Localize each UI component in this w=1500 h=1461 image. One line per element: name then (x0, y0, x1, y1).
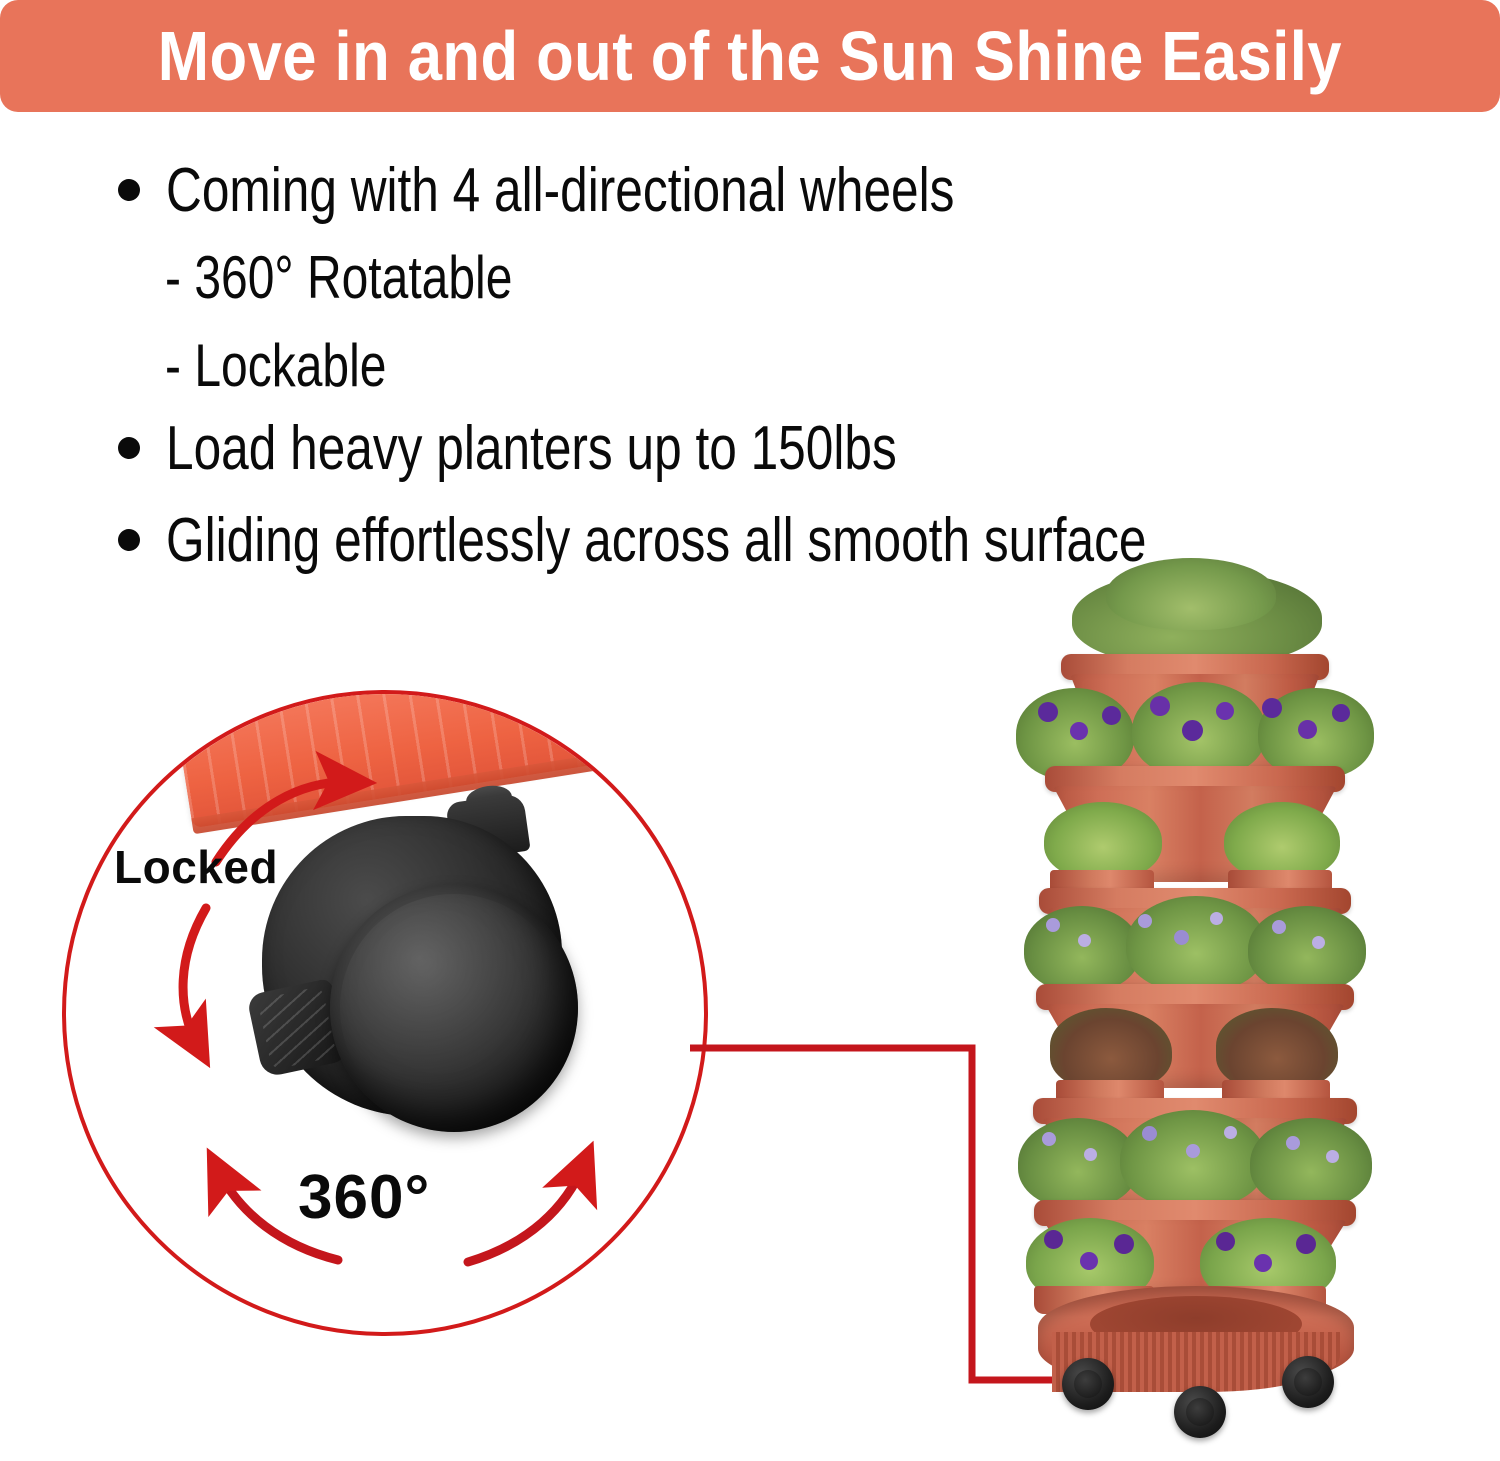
brake-lever-ridges (257, 986, 337, 1070)
flower-dot (1044, 1230, 1063, 1249)
feature-text: Load heavy planters up to 150lbs (166, 418, 897, 480)
plant-lavender-lobelia (1126, 896, 1266, 992)
wheel-tire (330, 884, 578, 1132)
flower-dot (1174, 930, 1189, 945)
flower-dot (1262, 698, 1282, 718)
flower-dot (1216, 1232, 1235, 1251)
flower-dot (1332, 704, 1350, 722)
flower-dot (1084, 1148, 1097, 1161)
list-item: Coming with 4 all-directional wheels (118, 160, 1152, 222)
flower-dot (1102, 706, 1121, 725)
feature-text: Gliding effortlessly across all smooth s… (166, 510, 1146, 572)
feature-text: Coming with 4 all-directional wheels (166, 160, 954, 222)
flower-dot (1046, 918, 1060, 932)
flower-dot (1138, 914, 1152, 928)
flower-dot (1142, 1126, 1157, 1141)
locked-arrow-down-icon (183, 908, 206, 1046)
page-title: Move in and out of the Sun Shine Easily (158, 16, 1342, 96)
flower-dot (1070, 722, 1088, 740)
plant-green-herb-bush (1106, 558, 1276, 630)
flower-dot (1224, 1126, 1237, 1139)
list-item: - 360° Rotatable (165, 248, 599, 308)
feature-text: - 360° Rotatable (165, 248, 512, 308)
bullet-dot-icon (118, 529, 140, 551)
feature-text: - Lockable (165, 336, 386, 396)
list-item: Load heavy planters up to 150lbs (118, 418, 1079, 480)
rolling-caddy-base (1038, 1280, 1354, 1420)
rotation-label: 360° (298, 1162, 430, 1233)
header-banner: Move in and out of the Sun Shine Easily (0, 0, 1500, 112)
flower-dot (1078, 934, 1091, 947)
flower-dot (1298, 720, 1317, 739)
plant-basil-greens (1224, 802, 1340, 880)
plant-lavender-lobelia (1120, 1110, 1266, 1208)
flower-dot (1326, 1150, 1339, 1163)
flower-dot (1272, 920, 1286, 934)
flower-dot (1186, 1144, 1200, 1158)
planter-tower (1010, 570, 1380, 1430)
flower-dot (1296, 1234, 1316, 1254)
flower-dot (1042, 1132, 1056, 1146)
plant-basil-greens (1044, 802, 1162, 880)
flower-dot (1210, 912, 1223, 925)
flower-dot (1254, 1254, 1272, 1272)
flower-dot (1150, 696, 1170, 716)
caster-wheel-graphic (234, 806, 614, 1186)
list-item: - Lockable (165, 336, 442, 396)
caster-wheel-icon (1282, 1356, 1334, 1408)
flower-dot (1114, 1234, 1134, 1254)
locked-label: Locked (114, 840, 278, 894)
flower-dot (1182, 720, 1203, 741)
plant-lavender-lobelia (1250, 1118, 1372, 1208)
flower-dot (1216, 702, 1234, 720)
plant-lavender-lobelia (1248, 906, 1366, 992)
flower-dot (1286, 1136, 1300, 1150)
flower-dot (1080, 1252, 1098, 1270)
bullet-dot-icon (118, 179, 140, 201)
bullet-dot-icon (118, 437, 140, 459)
caster-wheel-icon (1174, 1386, 1226, 1438)
caster-wheel-icon (1062, 1358, 1114, 1410)
flower-dot (1038, 702, 1058, 722)
caster-wheel-callout: Locked 360° (62, 690, 708, 1336)
flower-dot (1312, 936, 1325, 949)
plant-lavender-lobelia (1024, 906, 1140, 992)
